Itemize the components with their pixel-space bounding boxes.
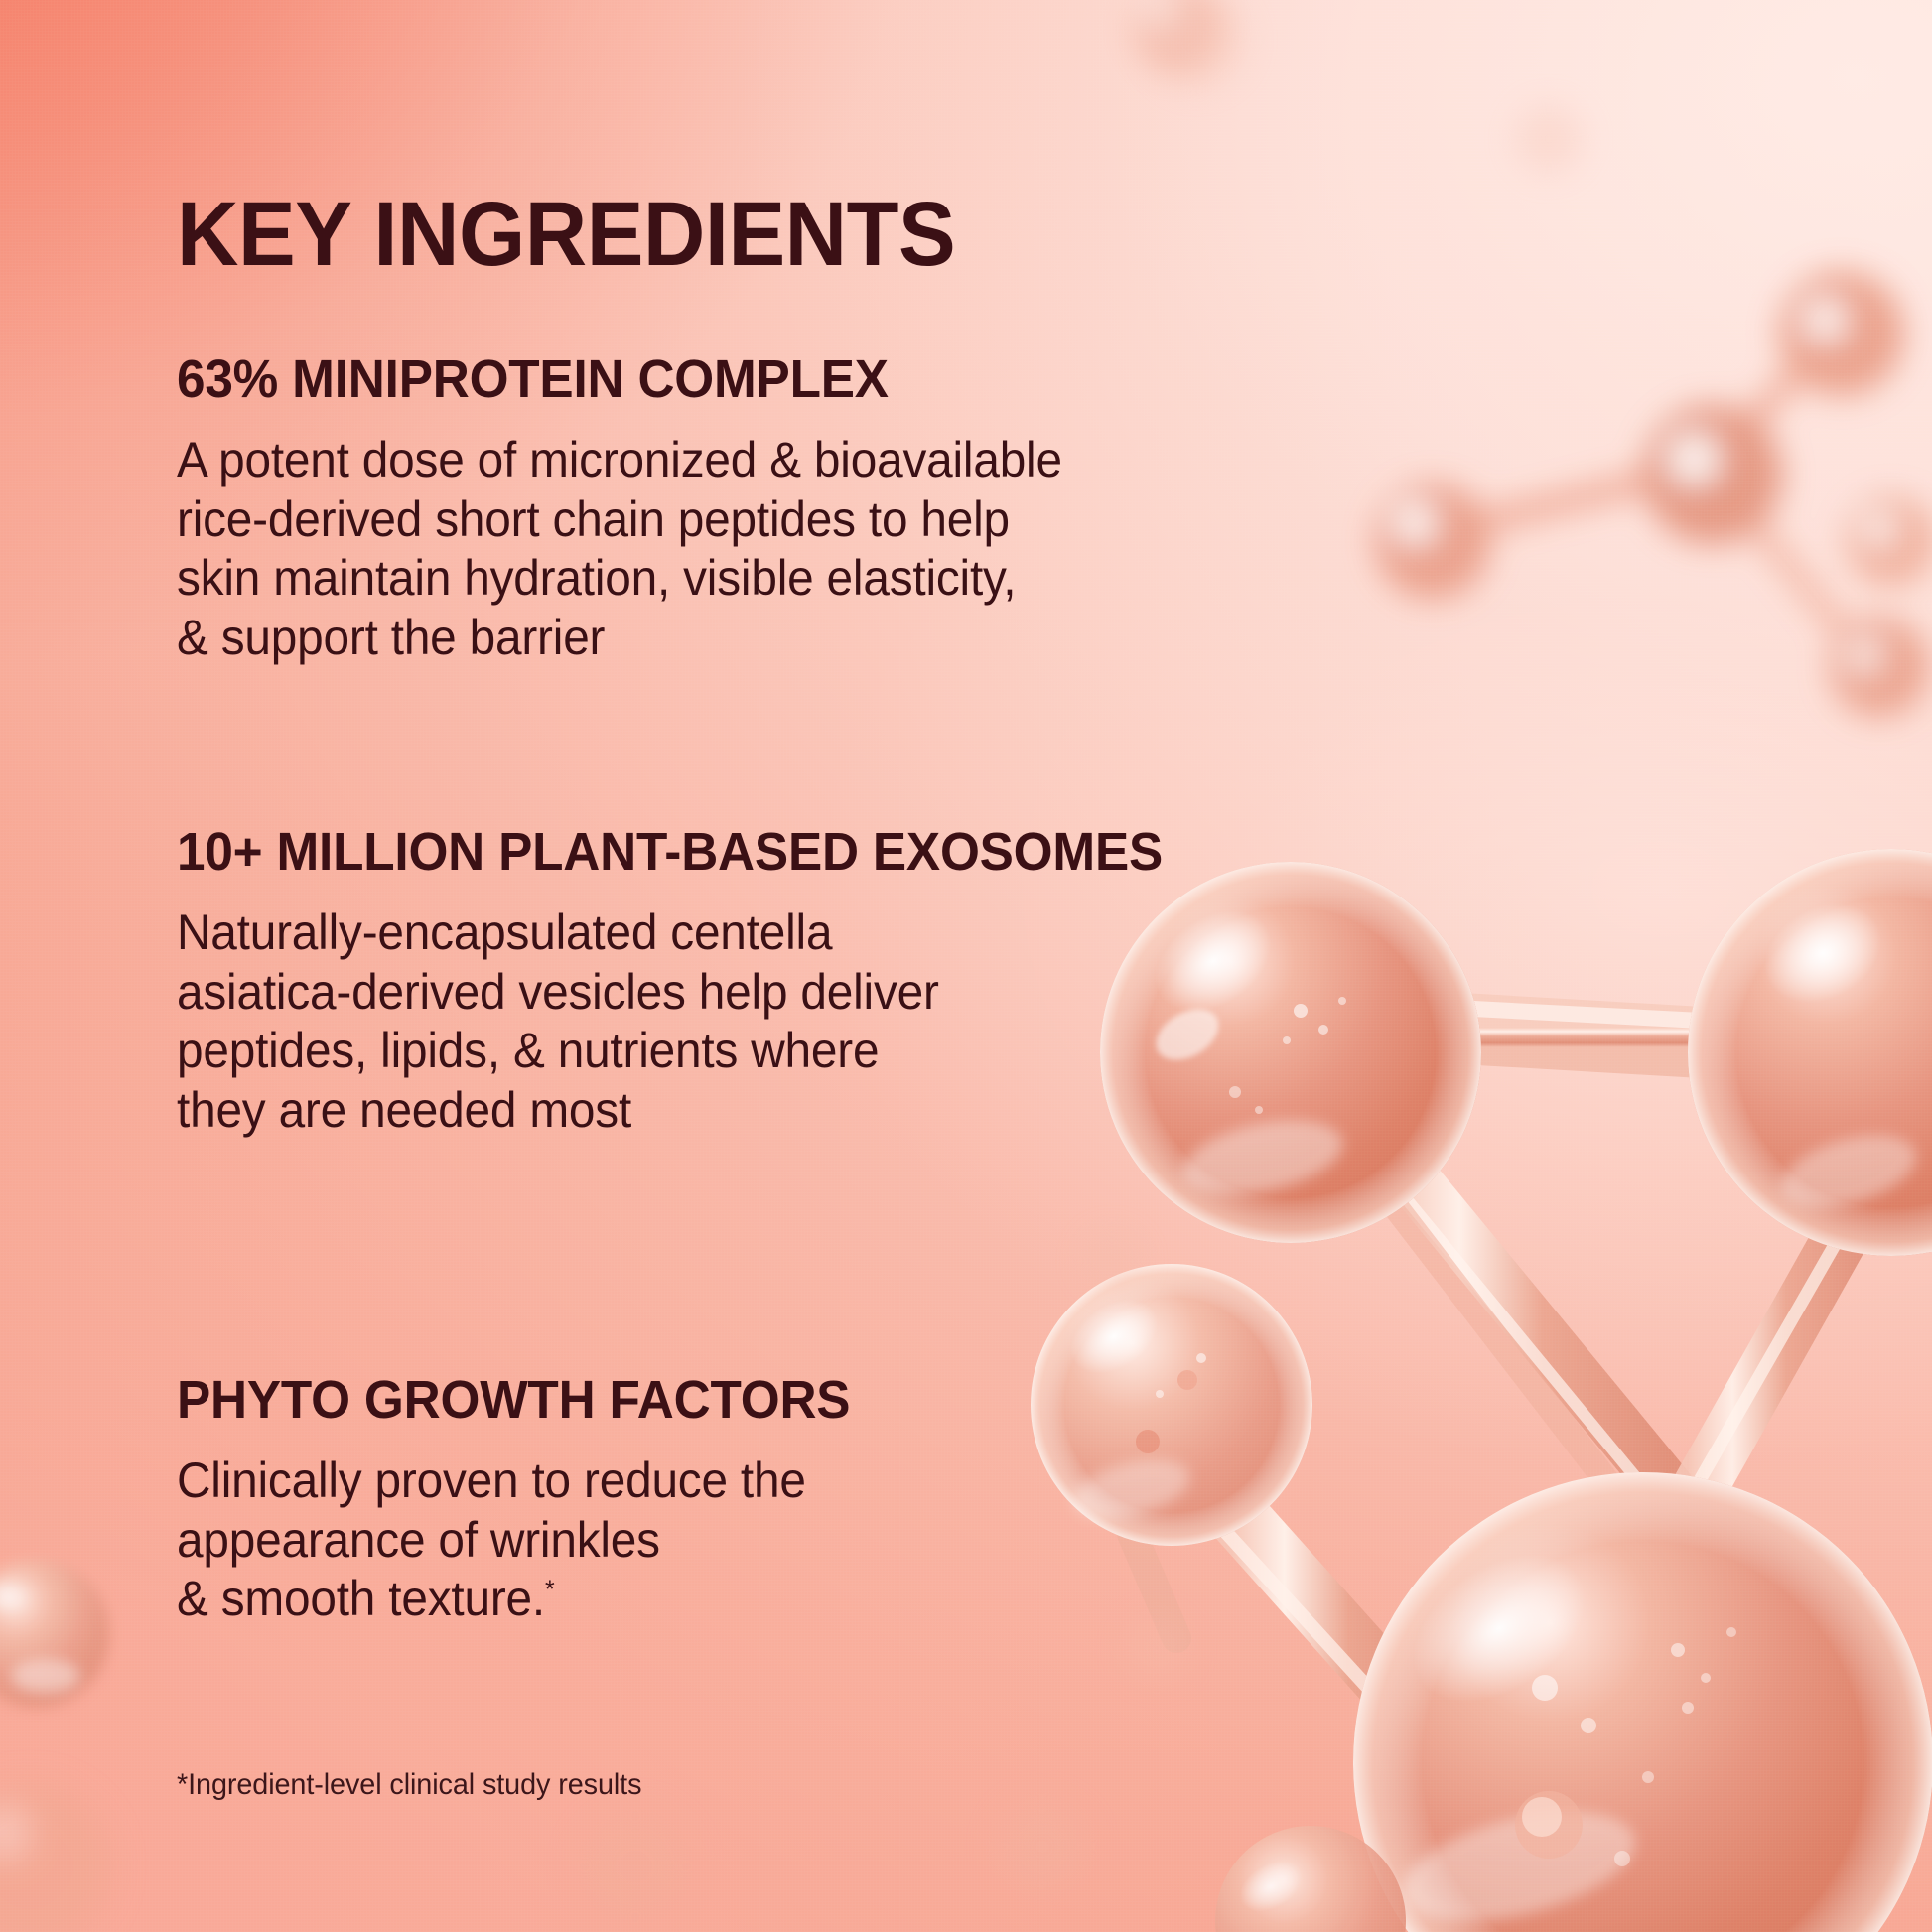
ingredient-heading-3: PHYTO GROWTH FACTORS — [177, 1370, 1252, 1430]
promo-graphic: KEY INGREDIENTS 63% MINIPROTEIN COMPLEX … — [0, 0, 1932, 1932]
ingredient-body-3-text: Clinically proven to reduce the appearan… — [177, 1452, 806, 1626]
ingredient-heading-2: 10+ MILLION PLANT-BASED EXOSOMES — [177, 822, 1252, 882]
text-content-column: KEY INGREDIENTS 63% MINIPROTEIN COMPLEX … — [177, 0, 1348, 1932]
page-title: KEY INGREDIENTS — [177, 189, 955, 280]
ingredient-body-2: Naturally-encapsulated centella asiatica… — [177, 903, 1258, 1140]
ingredient-block-1: 63% MINIPROTEIN COMPLEX A potent dose of… — [177, 349, 1309, 667]
ingredient-body-3: Clinically proven to reduce the appearan… — [177, 1451, 1258, 1629]
footnote-text: *Ingredient-level clinical study results — [177, 1767, 641, 1803]
ingredient-block-2: 10+ MILLION PLANT-BASED EXOSOMES Natural… — [177, 822, 1309, 1140]
ingredient-heading-1: 63% MINIPROTEIN COMPLEX — [177, 349, 1252, 409]
ingredient-block-3: PHYTO GROWTH FACTORS Clinically proven t… — [177, 1370, 1309, 1629]
ingredient-body-1: A potent dose of micronized & bioavailab… — [177, 431, 1258, 667]
footnote-marker: * — [545, 1575, 554, 1604]
